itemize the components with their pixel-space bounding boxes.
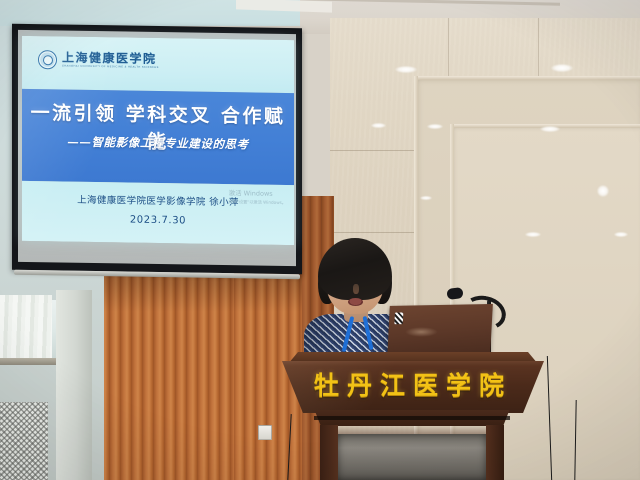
light-reflection	[420, 196, 432, 200]
windows-activation-watermark: 激活 Windows 转到"设置"以激活 Windows。	[229, 189, 286, 206]
university-name-cn: 上海健康医学院	[62, 52, 159, 66]
watermark-line-2: 转到"设置"以激活 Windows。	[229, 199, 286, 206]
watermark-line-1: 激活 Windows	[229, 189, 286, 200]
light-reflection	[551, 64, 573, 72]
podium-base-inset	[338, 434, 486, 480]
radiator-cover	[0, 402, 48, 480]
wood-panel-shadow	[88, 276, 302, 312]
laptop-reflection	[405, 327, 438, 337]
presentation-slide: 上海健康医学院 SHANGHAI UNIVERSITY OF MEDICINE …	[22, 36, 294, 245]
light-reflection	[540, 126, 560, 132]
university-logo-text: 上海健康医学院 SHANGHAI UNIVERSITY OF MEDICINE …	[62, 52, 159, 70]
presentation-room-photo: 上海健康医学院 SHANGHAI UNIVERSITY OF MEDICINE …	[0, 0, 640, 480]
light-reflection	[525, 232, 541, 237]
laptop-sticker	[394, 312, 403, 324]
university-seal-icon	[38, 50, 57, 69]
laptop	[388, 304, 493, 354]
university-logo: 上海健康医学院 SHANGHAI UNIVERSITY OF MEDICINE …	[38, 50, 159, 71]
wall-outlet	[258, 425, 272, 440]
podium-accent-band	[314, 416, 510, 420]
podium-base-edge-right	[486, 425, 504, 480]
light-reflection	[395, 66, 417, 73]
light-reflection	[614, 232, 628, 237]
podium-sign-text: 牡丹江医学院	[282, 366, 544, 402]
wall-recess-bevel	[414, 76, 640, 80]
podium-base-edge-left	[320, 425, 338, 480]
university-name-en: SHANGHAI UNIVERSITY OF MEDICINE & HEALTH…	[62, 66, 159, 70]
wall-column	[56, 290, 92, 480]
presenter-nose	[353, 284, 359, 294]
light-reflection	[597, 185, 609, 197]
window-curtain	[0, 295, 52, 365]
presenter-mouth	[348, 298, 363, 306]
light-reflection	[427, 124, 443, 129]
light-reflection	[371, 123, 386, 128]
